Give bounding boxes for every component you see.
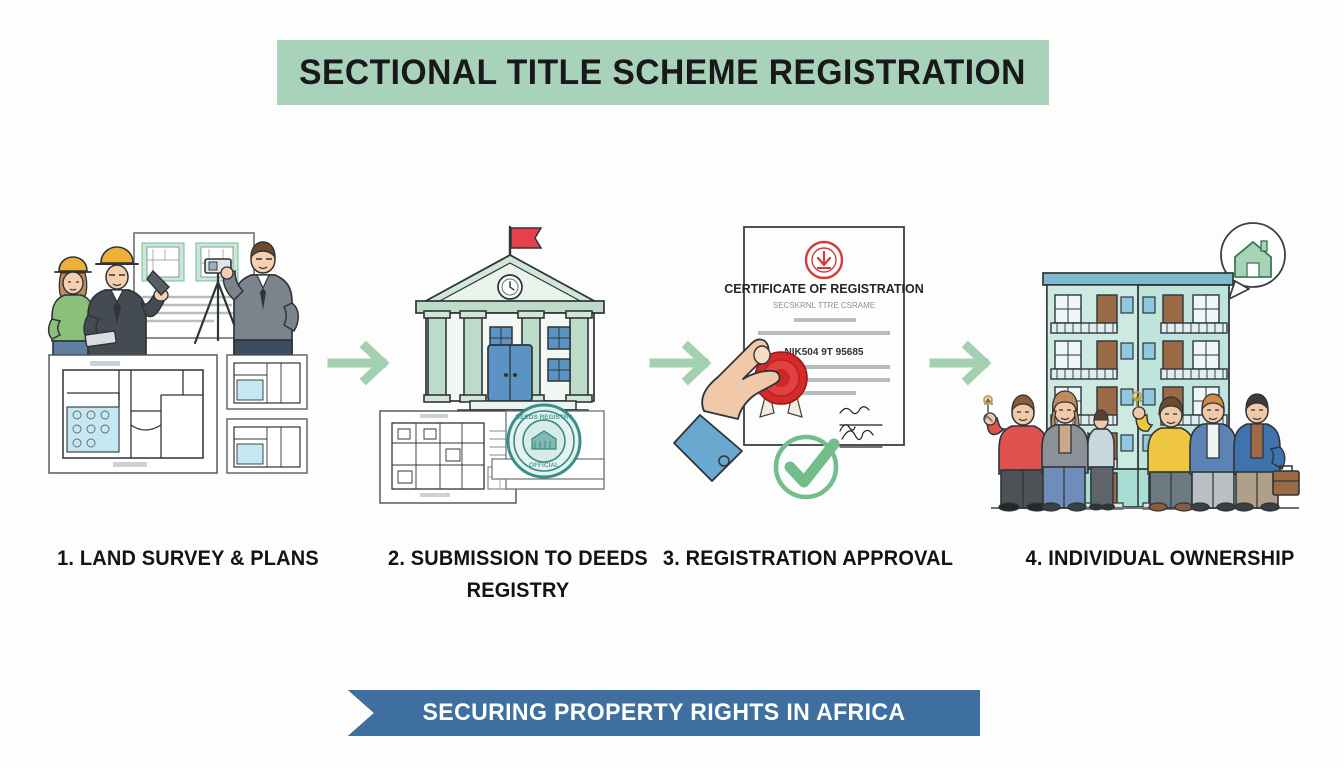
step-4-individual-ownership — [985, 215, 1285, 515]
certificate-subheading: SECSKRNL TTRE CSRAME — [773, 301, 875, 310]
step-1-label: 1. LAND SURVEY & PLANS — [36, 543, 340, 575]
deeds-registry-building-illustration: DEEDS REGISTRY OFFICIAL — [370, 215, 670, 515]
footer-banner: SECURING PROPERTY RIGHTS IN AFRICA — [348, 690, 980, 736]
page-title-band: SECTIONAL TITLE SCHEME REGISTRATION — [277, 40, 1049, 105]
step-4-label: 4. INDIVIDUAL OWNERSHIP — [1008, 543, 1312, 575]
svg-text:OFFICIAL: OFFICIAL — [529, 462, 559, 469]
step-1-land-survey — [35, 215, 335, 515]
certificate-heading: CERTIFICATE OF REGISTRATION — [724, 282, 924, 296]
apartment-owners-illustration — [985, 215, 1285, 515]
step-3-label: 3. REGISTRATION APPROVAL — [656, 543, 960, 575]
surveyors-with-plans-illustration — [35, 215, 335, 515]
step-2-deeds-registry: DEEDS REGISTRY OFFICIAL — [370, 215, 670, 515]
page-title: SECTIONAL TITLE SCHEME REGISTRATION — [300, 53, 1027, 93]
svg-text:DEEDS REGISTRY: DEEDS REGISTRY — [515, 414, 573, 421]
infographic-canvas: SECTIONAL TITLE SCHEME REGISTRATION — [0, 0, 1344, 768]
house-speech-bubble — [1221, 223, 1285, 299]
step-2-label: 2. SUBMISSION TO DEEDS REGISTRY — [366, 543, 670, 606]
